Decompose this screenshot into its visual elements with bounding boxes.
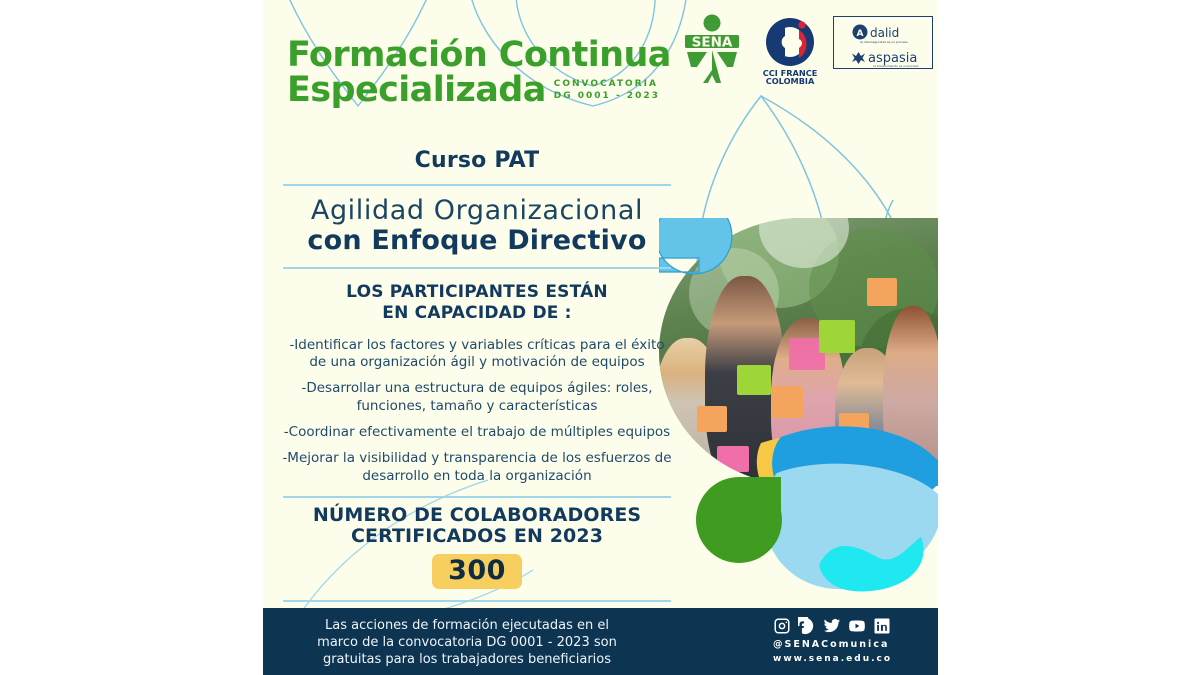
course-label: Curso PAT [277, 148, 677, 173]
poster: SENA CCI FRANCE COLOMBIA A dalid la cibe… [263, 0, 938, 675]
convocatoria-line-2: DG 0001 - 2023 [554, 90, 660, 102]
cci-france-colombia-logo: CCI FRANCE COLOMBIA [759, 14, 821, 86]
list-item: -Coordinar efectivamente el trabajo de m… [277, 424, 677, 441]
divider-2 [283, 267, 671, 269]
list-item: -Desarrollar una estructura de equipos á… [277, 380, 677, 415]
footer-disclaimer: Las acciones de formación ejecutadas en … [287, 618, 647, 669]
certified-heading-line-1: NÚMERO DE COLABORADORES [277, 505, 677, 526]
svg-text:COLOMBIA: COLOMBIA [766, 76, 815, 86]
footer-disclaimer-line-2: marco de la convocatoria DG 0001 - 2023 … [287, 635, 647, 652]
logo-row: SENA CCI FRANCE COLOMBIA A dalid la cibe… [681, 8, 933, 90]
certified-heading: NÚMERO DE COLABORADORES CERTIFICADOS EN … [277, 505, 677, 548]
social-handle: @SENAComunica [773, 639, 923, 650]
svg-text:SENA: SENA [692, 35, 733, 51]
divider-4 [283, 600, 671, 602]
website-url: www.sena.edu.co [773, 654, 923, 664]
capacity-heading-line-1: LOS PARTICIPANTES ESTÁN [277, 282, 677, 303]
divider-3 [283, 496, 671, 498]
divider-1 [283, 184, 671, 186]
poster-content: Curso PAT Agilidad Organizacional con En… [277, 148, 677, 675]
headline-line-2: Especializada [287, 73, 546, 108]
course-title: Agilidad Organizacional con Enfoque Dire… [277, 196, 677, 256]
certified-heading-line-2: CERTIFICADOS EN 2023 [277, 526, 677, 547]
course-title-line-1: Agilidad Organizacional [277, 196, 677, 226]
certified-count-badge: 300 [432, 554, 522, 589]
footer-disclaimer-line-1: Las acciones de formación ejecutadas en … [287, 618, 647, 635]
capacity-heading-line-2: EN CAPACIDAD DE : [277, 303, 677, 324]
convocatoria-line-1: CONVOCATORIA [554, 78, 660, 90]
footer-disclaimer-line-3: gratuitas para los trabajadores benefici… [287, 652, 647, 669]
svg-text:la ciberseguridad es un proces: la ciberseguridad es un proceso [860, 40, 908, 44]
twitter-icon[interactable] [823, 617, 841, 635]
social-block: @SENAComunica www.sena.edu.co [773, 617, 923, 664]
decorative-organic-shapes [659, 415, 938, 615]
headline: Formación Continua Especializada CONVOCA… [287, 38, 687, 107]
screenshot-canvas: SENA CCI FRANCE COLOMBIA A dalid la cibe… [0, 0, 1200, 675]
social-icon-row [773, 617, 923, 635]
svg-text:A: A [857, 29, 864, 39]
linkedin-icon[interactable] [873, 617, 891, 635]
svg-text:dalid: dalid [870, 26, 899, 40]
list-item: -Identificar los factores y variables cr… [277, 337, 677, 372]
youtube-icon[interactable] [848, 617, 866, 635]
convocatoria-block: CONVOCATORIA DG 0001 - 2023 [554, 78, 660, 107]
sena-logo: SENA [681, 12, 743, 84]
facebook-icon[interactable] [798, 617, 816, 635]
svg-text:la transformación es un proces: la transformación es un proceso [874, 64, 919, 68]
instagram-icon[interactable] [773, 617, 791, 635]
footer-bar: Las acciones de formación ejecutadas en … [263, 608, 938, 675]
course-title-line-2: con Enfoque Directivo [277, 226, 677, 256]
list-item: -Mejorar la visibilidad y transparencia … [277, 450, 677, 485]
headline-line-1: Formación Continua [287, 38, 687, 73]
adalid-aspasia-logo: A dalid la ciberseguridad es un proceso … [833, 16, 933, 69]
bullet-list: -Identificar los factores y variables cr… [277, 337, 677, 485]
capacity-heading: LOS PARTICIPANTES ESTÁN EN CAPACIDAD DE … [277, 282, 677, 323]
